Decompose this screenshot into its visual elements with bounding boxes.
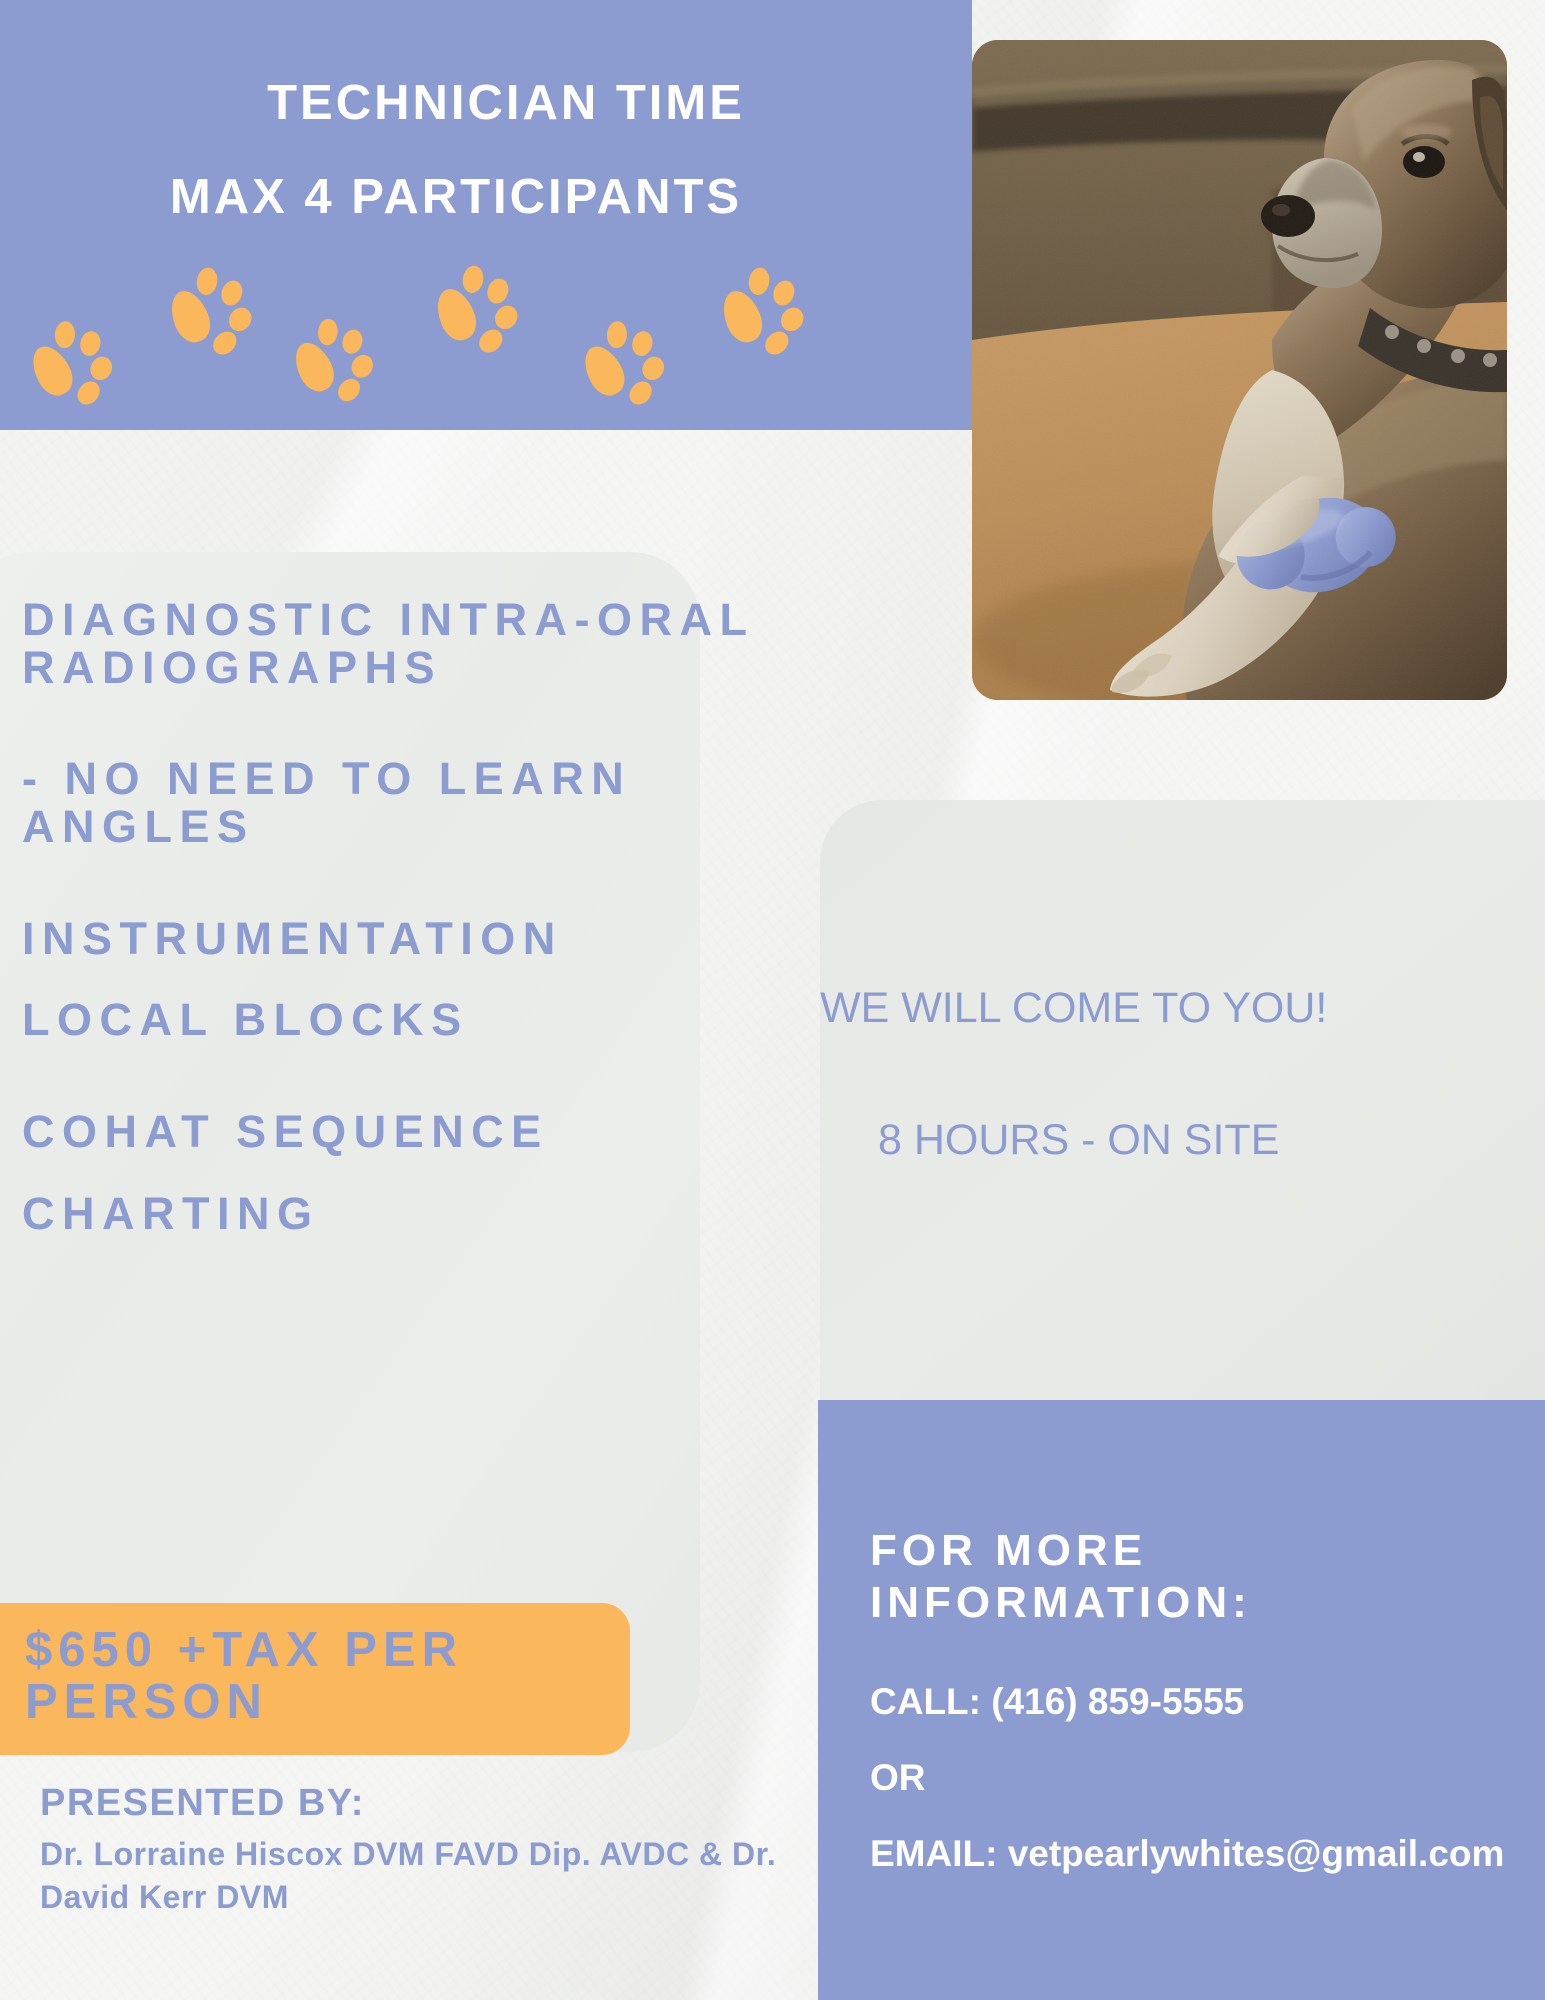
presenter-names: Dr. Lorraine Hiscox DVM FAVD Dip. AVDC &…: [40, 1833, 830, 1918]
contact-phone[interactable]: CALL: (416) 859-5555: [870, 1681, 1530, 1723]
service-item-angles: - NO NEED TO LEARN ANGLES: [22, 755, 782, 850]
dog-photo: [972, 40, 1507, 700]
service-item-instrumentation: INSTRUMENTATION: [22, 915, 782, 963]
dog-photo-illustration: [972, 40, 1507, 700]
contact-panel: FOR MORE INFORMATION: CALL: (416) 859-55…: [818, 1400, 1545, 2000]
offer-block: WE WILL COME TO YOU! 8 HOURS - ON SITE: [820, 985, 1520, 1165]
contact-title: FOR MORE INFORMATION:: [870, 1525, 1530, 1629]
service-item-cohat-sequence: COHAT SEQUENCE: [22, 1108, 782, 1156]
offer-hours: 8 HOURS - ON SITE: [820, 1117, 1520, 1164]
presented-by-label: PRESENTED BY:: [40, 1782, 830, 1825]
presenter-block: PRESENTED BY: Dr. Lorraine Hiscox DVM FA…: [40, 1782, 830, 1918]
price-text: $650 +TAX PER PERSON: [25, 1625, 625, 1729]
price-badge: $650 +TAX PER PERSON: [0, 1603, 630, 1755]
services-list: DIAGNOSTIC INTRA-ORAL RADIOGRAPHS - NO N…: [22, 596, 782, 1278]
header-title-line1: TECHNICIAN TIME: [40, 78, 972, 129]
service-item-charting: CHARTING: [22, 1190, 782, 1238]
header-band: TECHNICIAN TIME MAX 4 PARTICIPANTS: [0, 0, 972, 430]
header-title-line2: MAX 4 PARTICIPANTS: [0, 172, 972, 223]
offer-come-to-you: WE WILL COME TO YOU!: [820, 985, 1520, 1032]
service-item-radiographs: DIAGNOSTIC INTRA-ORAL RADIOGRAPHS: [22, 596, 782, 691]
service-item-local-blocks: LOCAL BLOCKS: [22, 996, 782, 1044]
contact-email[interactable]: EMAIL: vetpearlywhites@gmail.com: [870, 1833, 1530, 1875]
contact-or-separator: OR: [870, 1757, 1530, 1799]
